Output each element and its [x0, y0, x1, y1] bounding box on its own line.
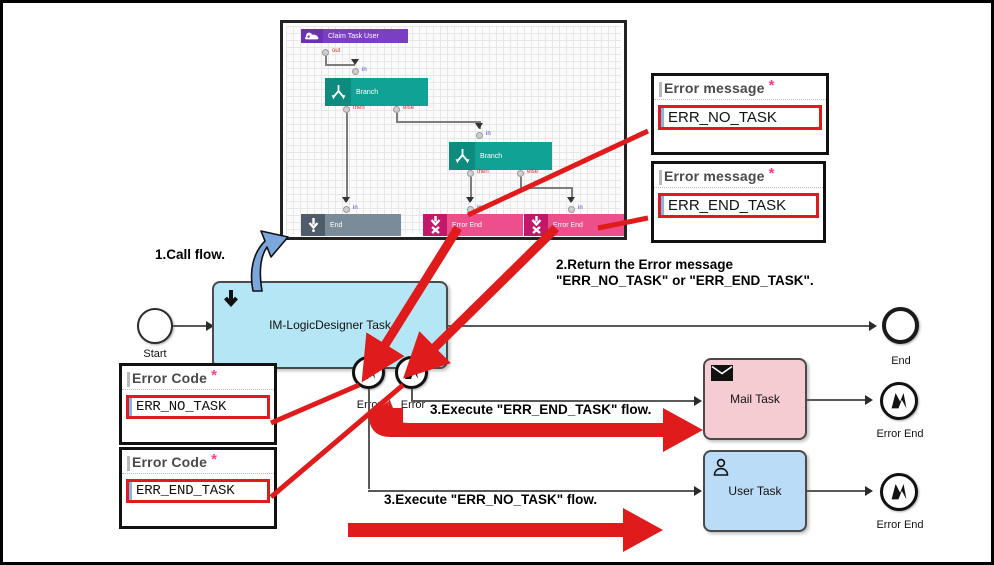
boundary-error-event-left[interactable] — [352, 356, 385, 389]
port-in-end[interactable] — [343, 206, 350, 213]
envelope-icon — [711, 365, 733, 384]
port-label-then: then — [477, 169, 489, 175]
required-asterisk: * — [211, 367, 217, 384]
annotation-step-3-err-no-task: 3.Execute "ERR_NO_TASK" flow. — [384, 492, 597, 509]
port-label-in: in — [486, 131, 491, 137]
required-asterisk: * — [211, 451, 217, 468]
popup-title-text: Error Code — [132, 370, 207, 386]
port-in-error-end-2[interactable] — [568, 206, 575, 213]
flow-user-to-error-end — [807, 490, 869, 492]
error-message-input[interactable]: ERR_NO_TASK — [658, 105, 822, 130]
popup-error-message-end-task[interactable]: Error message* ERR_END_TASK — [651, 161, 826, 243]
error-code-input[interactable]: ERR_NO_TASK — [126, 395, 270, 419]
connector — [396, 121, 481, 123]
port-label-else: else — [527, 169, 538, 175]
error-end-icon — [524, 214, 548, 236]
connector-arrowhead — [567, 197, 575, 203]
boundary-error-event-right[interactable] — [395, 356, 428, 389]
popup-error-code-no-task[interactable]: Error Code* ERR_NO_TASK — [119, 363, 277, 445]
connector — [396, 113, 398, 121]
flow-arrowhead — [694, 486, 702, 496]
annotation-step-2-line1: 2.Return the Error message — [556, 257, 733, 274]
popup-error-message-no-task[interactable]: Error message* ERR_NO_TASK — [651, 73, 829, 155]
branch-icon — [449, 142, 475, 170]
port-label-else: else — [403, 105, 414, 111]
branch-icon — [325, 78, 351, 106]
node-claim-task-user[interactable]: Claim Task User — [301, 29, 408, 43]
connector — [520, 187, 573, 189]
error-end-icon — [423, 214, 447, 236]
start-event[interactable] — [137, 308, 173, 344]
port-label-out: out — [332, 48, 340, 54]
input-value: ERR_NO_TASK — [129, 398, 267, 416]
error-bolt-icon — [358, 362, 379, 383]
call-activity-icon — [220, 288, 242, 313]
flow-arrowhead — [865, 395, 873, 405]
error-bolt-icon — [401, 362, 422, 383]
node-label: Error End — [548, 222, 583, 229]
node-label: Claim Task User — [323, 33, 379, 40]
port-then-branch1[interactable] — [343, 106, 350, 113]
port-else-branch2[interactable] — [517, 170, 524, 177]
flow-arrowhead — [865, 486, 873, 496]
node-end[interactable]: End — [301, 214, 401, 236]
node-label: Error End — [447, 222, 482, 229]
task-label: IM-LogicDesigner Task — [269, 318, 391, 332]
flow-arrowhead — [694, 396, 702, 406]
port-in-branch2[interactable] — [476, 132, 483, 139]
connector-arrowhead — [342, 197, 350, 203]
user-icon — [711, 457, 731, 480]
node-branch-1[interactable]: Branch — [325, 78, 428, 106]
node-error-end-1[interactable]: Error End — [423, 214, 523, 236]
popup-title-text: Error Code — [132, 454, 207, 470]
input-value: ERR_END_TASK — [129, 482, 267, 500]
popup-title: Error Code* — [122, 366, 274, 390]
connector — [325, 56, 327, 64]
flow-boundary-left — [368, 389, 370, 489]
diagram-canvas: Claim Task User out in Branch then else … — [0, 0, 994, 565]
port-else-branch1[interactable] — [393, 106, 400, 113]
port-in-error-end-1[interactable] — [467, 206, 474, 213]
popup-error-code-end-task[interactable]: Error Code* ERR_END_TASK — [119, 447, 277, 529]
task-label: User Task — [728, 484, 781, 498]
input-value: ERR_END_TASK — [661, 196, 816, 215]
popup-title: Error message* — [654, 76, 826, 100]
error-bolt-icon — [887, 480, 911, 504]
user-error-end-event[interactable] — [880, 473, 918, 511]
input-value: ERR_NO_TASK — [661, 108, 819, 127]
task-label: Mail Task — [730, 392, 780, 406]
required-asterisk: * — [769, 77, 775, 94]
error-code-input[interactable]: ERR_END_TASK — [126, 479, 270, 503]
end-event-label: End — [873, 355, 929, 367]
end-event[interactable] — [882, 307, 919, 344]
connector-arrowhead — [466, 197, 474, 203]
port-in-branch1[interactable] — [352, 68, 359, 75]
annotation-step-2-line2: "ERR_NO_TASK" or "ERR_END_TASK". — [556, 273, 814, 290]
port-label-in: in — [578, 205, 583, 211]
flow-start-to-task — [173, 325, 209, 327]
annotation-step-3-err-end-task: 3.Execute "ERR_END_TASK" flow. — [430, 402, 651, 419]
popup-title: Error message* — [654, 164, 823, 188]
port-label-in: in — [362, 67, 367, 73]
mail-error-end-label: Error End — [865, 428, 935, 440]
connector-arrowhead — [475, 123, 483, 129]
node-label: End — [325, 222, 342, 229]
node-label: Branch — [351, 89, 378, 96]
popup-title: Error Code* — [122, 450, 274, 474]
user-task[interactable]: User Task — [703, 450, 807, 532]
end-icon — [301, 214, 325, 236]
node-branch-2[interactable]: Branch — [449, 142, 552, 170]
mail-task[interactable]: Mail Task — [703, 358, 807, 440]
port-out-claim[interactable] — [322, 49, 329, 56]
connector — [346, 113, 348, 201]
start-event-label: Start — [127, 348, 183, 360]
flow-designer-panel: Claim Task User out in Branch then else … — [280, 20, 627, 240]
annotation-step-1: 1.Call flow. — [155, 247, 225, 264]
connector-arrowhead — [351, 59, 359, 65]
node-error-end-2[interactable]: Error End — [524, 214, 624, 236]
flow-arrowhead — [869, 321, 877, 331]
mail-error-end-event[interactable] — [880, 382, 918, 420]
error-message-input[interactable]: ERR_END_TASK — [658, 193, 819, 218]
port-then-branch2[interactable] — [467, 170, 474, 177]
popup-title-text: Error message — [664, 168, 765, 184]
error-bolt-icon — [887, 389, 911, 413]
node-label: Branch — [475, 153, 502, 160]
cloud-user-icon — [301, 29, 323, 43]
popup-title-text: Error message — [664, 80, 765, 96]
flow-task-to-end — [448, 325, 873, 327]
required-asterisk: * — [769, 165, 775, 182]
port-label-then: then — [353, 105, 365, 111]
port-label-in: in — [477, 205, 482, 211]
flow-mail-to-error-end — [807, 399, 869, 401]
port-label-in: in — [353, 205, 358, 211]
user-error-end-label: Error End — [865, 519, 935, 531]
connector — [520, 177, 522, 187]
